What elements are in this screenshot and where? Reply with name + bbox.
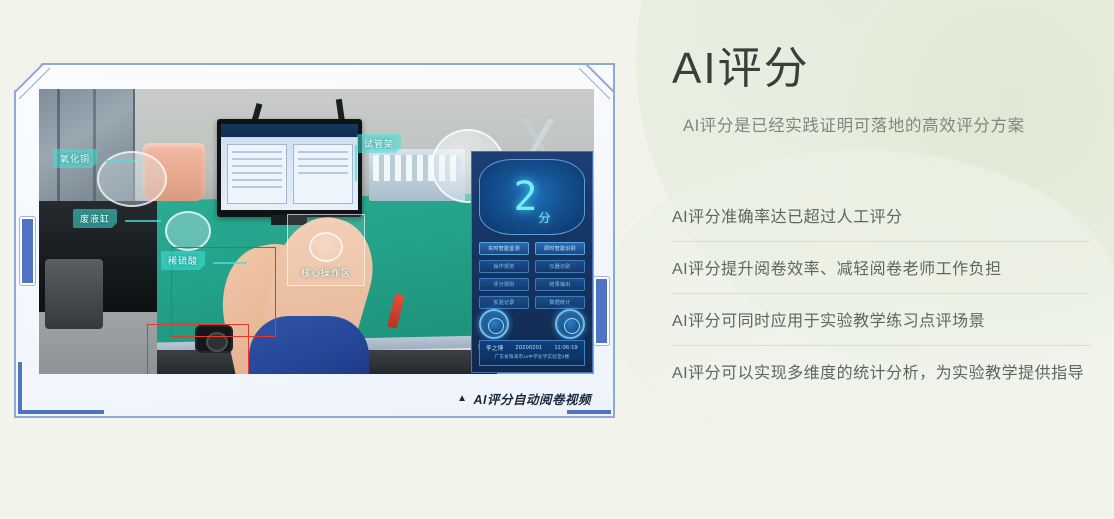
hud-button-row-1: 实时智能监测 即时智能识别: [479, 242, 585, 255]
glassware-small-dish: [165, 211, 211, 251]
hud-button-instrument-recognition[interactable]: 仪器识别: [535, 260, 585, 273]
hud-button-row-3: 评分规则 结果输出: [479, 278, 585, 291]
ar-label-copper-oxide: 氧化铜: [53, 149, 97, 168]
video-panel-frame[interactable]: 试管架 废液缸 稀硫酸 氧化铜 核心操作区 2 分 实时智能监测 即时智能识别 …: [14, 63, 615, 418]
beaker-icon: [309, 232, 343, 262]
video-caption-text: AI评分自动阅卷视频: [473, 389, 591, 408]
corner-accent-bottom-right: [567, 410, 611, 414]
hud-button-result-output[interactable]: 结果输出: [535, 278, 585, 291]
ar-core-zone-label: 核心操作区: [301, 266, 351, 279]
list-item: AI评分提升阅卷效率、减轻阅卷老师工作负担: [672, 242, 1090, 294]
decorative-tab-left: [20, 217, 35, 285]
lab-monitor-screen: [221, 124, 358, 210]
page-subtitle: AI评分是已经实践证明可落地的高效评分方案: [683, 112, 1025, 136]
list-item: AI评分准确率达已超过人工评分: [672, 190, 1090, 242]
hud-info-student-code: 20200201: [516, 345, 543, 351]
lab-monitor: [217, 119, 362, 217]
hud-student-info-bar: 李之博 20200201 11:06:19 广东省珠海市xx中学化学实验室4楼: [479, 340, 585, 366]
hud-button-instant-recognition[interactable]: 即时智能识别: [535, 242, 585, 255]
ar-core-operation-zone: 核心操作区: [287, 214, 365, 286]
hud-score-display: 2 分: [479, 159, 585, 235]
hud-button-row-2: 操作规范 仪器识别: [479, 260, 585, 273]
ar-leader-line-2: [125, 220, 161, 222]
decorative-tab-right: [594, 277, 609, 345]
hud-score-value: 2: [513, 177, 537, 217]
hud-button-scoring-rules[interactable]: 评分规则: [479, 278, 529, 291]
ar-label-test-tube-rack: 试管架: [357, 134, 401, 153]
corner-accent-bottom-left: [18, 362, 22, 414]
list-item: AI评分可同时应用于实验教学练习点评场景: [672, 294, 1090, 346]
ai-scoring-hud-panel[interactable]: 2 分 实时智能监测 即时智能识别 操作规范 仪器识别 评分规则 结果输出 实验…: [471, 151, 593, 373]
hud-score-unit: 分: [539, 209, 551, 226]
ar-label-waste-tank: 废液缸: [73, 209, 117, 228]
ar-label-dilute-acid: 稀硫酸: [161, 251, 205, 270]
hud-dial-group: [479, 304, 585, 344]
ar-leader-line-4: [105, 160, 135, 162]
hud-button-operation-standard[interactable]: 操作规范: [479, 260, 529, 273]
detection-box-lower: [147, 324, 249, 374]
content-column: AI评分 AI评分是已经实践证明可落地的高效评分方案 AI评分准确率达已超过人工…: [672, 0, 1102, 519]
page-title: AI评分: [672, 32, 810, 96]
hud-info-primary-row: 李之博 20200201 11:06:19: [480, 341, 584, 354]
hud-info-student-name: 李之博: [486, 344, 503, 352]
hud-button-realtime-monitor[interactable]: 实时智能监测: [479, 242, 529, 255]
lab-stool: [45, 259, 103, 329]
triangle-marker-icon: ▲: [457, 393, 467, 404]
monitor-pane-left: [227, 144, 287, 204]
hud-info-timestamp: 11:06:19: [555, 345, 578, 351]
feature-list: AI评分准确率达已超过人工评分 AI评分提升阅卷效率、减轻阅卷老师工作负担 AI…: [672, 190, 1090, 397]
monitor-titlebar: [221, 124, 358, 137]
list-item: AI评分可以实现多维度的统计分析，为实验教学提供指导: [672, 346, 1090, 397]
hud-dial-left[interactable]: [479, 309, 509, 339]
hud-info-school: 广东省珠海市xx中学化学实验室4楼: [480, 354, 584, 360]
ar-leader-line-1: [355, 145, 357, 181]
video-caption: ▲ AI评分自动阅卷视频: [457, 389, 591, 408]
monitor-pane-right: [293, 144, 353, 204]
video-still-image[interactable]: 试管架 废液缸 稀硫酸 氧化铜 核心操作区 2 分 实时智能监测 即时智能识别 …: [39, 89, 594, 374]
ar-leader-line-3: [213, 262, 247, 264]
hud-dial-right[interactable]: [555, 309, 585, 339]
